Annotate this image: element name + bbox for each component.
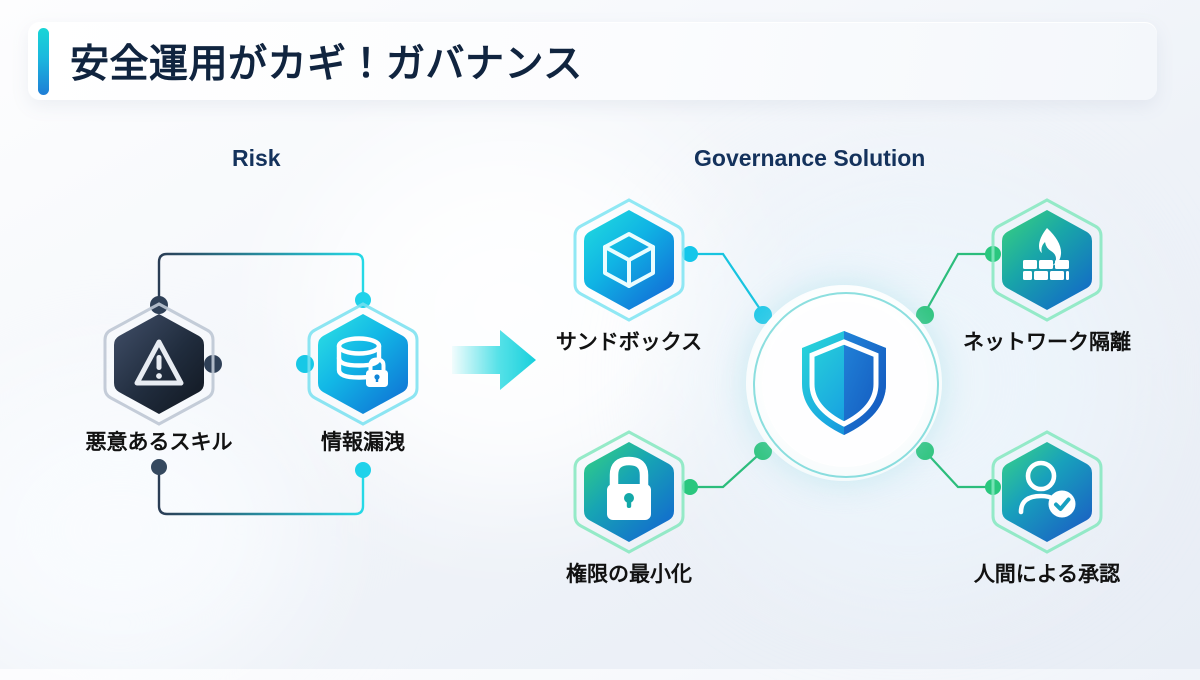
hexagon-shape (101, 300, 217, 428)
right-arrow-icon (452, 330, 536, 390)
header-card: 安全運用がカギ！ガバナンス (28, 22, 1157, 100)
hexagon-shape (571, 428, 687, 556)
risk-node-malicious-skill[interactable]: 悪意あるスキル (101, 300, 217, 428)
solution-node-least-privilege[interactable]: 権限の最小化 (571, 428, 687, 556)
hexagon-shape (989, 428, 1105, 556)
shield-icon (797, 329, 891, 437)
risk-node-label: 悪意あるスキル (86, 426, 233, 456)
risk-node-label: 情報漏洩 (321, 426, 405, 456)
solution-node-label: 権限の最小化 (566, 558, 692, 588)
page-title: 安全運用がカギ！ガバナンス (70, 33, 583, 89)
solution-section-heading: Governance Solution (694, 145, 925, 172)
hexagon-shape (989, 196, 1105, 324)
governance-shield-hub[interactable] (746, 285, 942, 481)
solution-node-label: 人間による承認 (974, 558, 1120, 588)
solution-node-sandbox[interactable]: サンドボックス (571, 196, 687, 324)
connector-dot-leak-bottom (355, 462, 371, 478)
risk-node-data-leak[interactable]: 情報漏洩 (305, 300, 421, 428)
connector-risk-bottom (159, 467, 363, 514)
solution-node-label: サンドボックス (556, 326, 702, 356)
connector-risk-top (159, 254, 363, 305)
solution-node-human-approval[interactable]: 人間による承認 (989, 428, 1105, 556)
accent-bar (38, 28, 49, 95)
solution-node-label: ネットワーク隔離 (963, 326, 1131, 356)
connector-dot-skill-bottom (151, 459, 167, 475)
solution-node-network-isolation[interactable]: ネットワーク隔離 (989, 196, 1105, 324)
hexagon-shape (305, 300, 421, 428)
risk-section-heading: Risk (232, 145, 281, 172)
hexagon-shape (571, 196, 687, 324)
